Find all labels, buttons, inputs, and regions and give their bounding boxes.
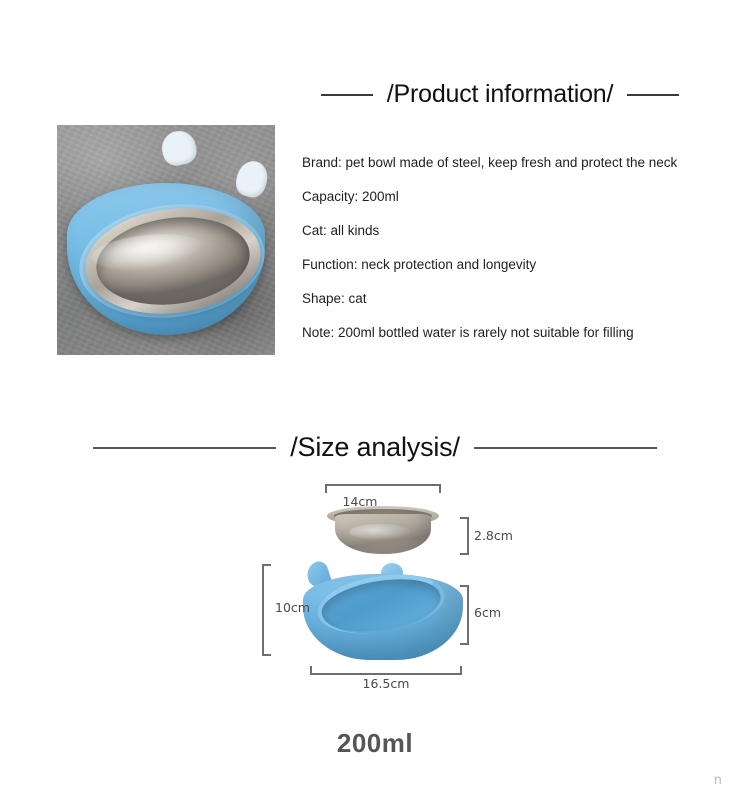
dimension-bracket-total-height	[262, 564, 273, 656]
dimension-label-top-width: 14cm	[343, 494, 378, 509]
product-information-title: /Product information/	[387, 80, 613, 109]
volume-label: 200ml	[0, 728, 750, 759]
bracket-tick-end	[460, 643, 469, 645]
bracket-tick-end	[262, 654, 271, 656]
bracket-tick-start	[310, 666, 312, 675]
bracket-tick-start	[325, 484, 327, 493]
bracket-bar	[262, 564, 264, 656]
dimension-label-bowl-height: 2.8cm	[474, 528, 513, 543]
diagram-steel-highlight	[349, 524, 411, 540]
specification-list: Brand: pet bowl made of steel, keep fres…	[302, 146, 702, 350]
corner-watermark: n	[714, 773, 722, 788]
dimension-bracket-bowl-height	[458, 517, 469, 555]
bracket-tick-end	[439, 484, 441, 493]
spec-brand: Brand: pet bowl made of steel, keep fres…	[302, 146, 702, 180]
size-header-rule-right	[474, 447, 657, 449]
spec-function: Function: neck protection and longevity	[302, 248, 702, 282]
size-header-rule-left	[93, 447, 276, 449]
spec-cat: Cat: all kinds	[302, 214, 702, 248]
diagram-base-body	[303, 574, 463, 660]
header-rule-left	[321, 94, 373, 96]
size-diagram: 14cm 2.8cm 6cm 10cm 16.5cm	[255, 480, 525, 695]
dimension-bracket-base-height	[458, 585, 469, 645]
spec-capacity: Capacity: 200ml	[302, 180, 702, 214]
dimension-label-base-width: 16.5cm	[363, 676, 410, 691]
bracket-bar	[325, 484, 441, 486]
product-photo	[57, 125, 275, 355]
bracket-tick-start	[262, 564, 271, 566]
spec-note: Note: 200ml bottled water is rarely not …	[302, 316, 702, 350]
diagram-base-lip	[313, 566, 448, 641]
bracket-tick-end	[460, 666, 462, 675]
diagram-steel-bowl	[327, 506, 439, 554]
size-analysis-title: /Size analysis/	[290, 432, 460, 463]
dimension-label-total-height: 10cm	[275, 600, 310, 615]
size-analysis-header: /Size analysis/	[0, 432, 750, 463]
bracket-bar	[467, 517, 469, 555]
bracket-bar	[467, 585, 469, 645]
dimension-bracket-base-width	[310, 664, 462, 675]
header-rule-right	[627, 94, 679, 96]
product-information-header: /Product information/	[300, 80, 700, 109]
bracket-tick-end	[460, 553, 469, 555]
bracket-tick-start	[460, 585, 469, 587]
diagram-blue-base	[303, 562, 463, 660]
bracket-bar	[310, 673, 462, 675]
dimension-label-base-height: 6cm	[474, 605, 501, 620]
spec-shape: Shape: cat	[302, 282, 702, 316]
bracket-tick-start	[460, 517, 469, 519]
